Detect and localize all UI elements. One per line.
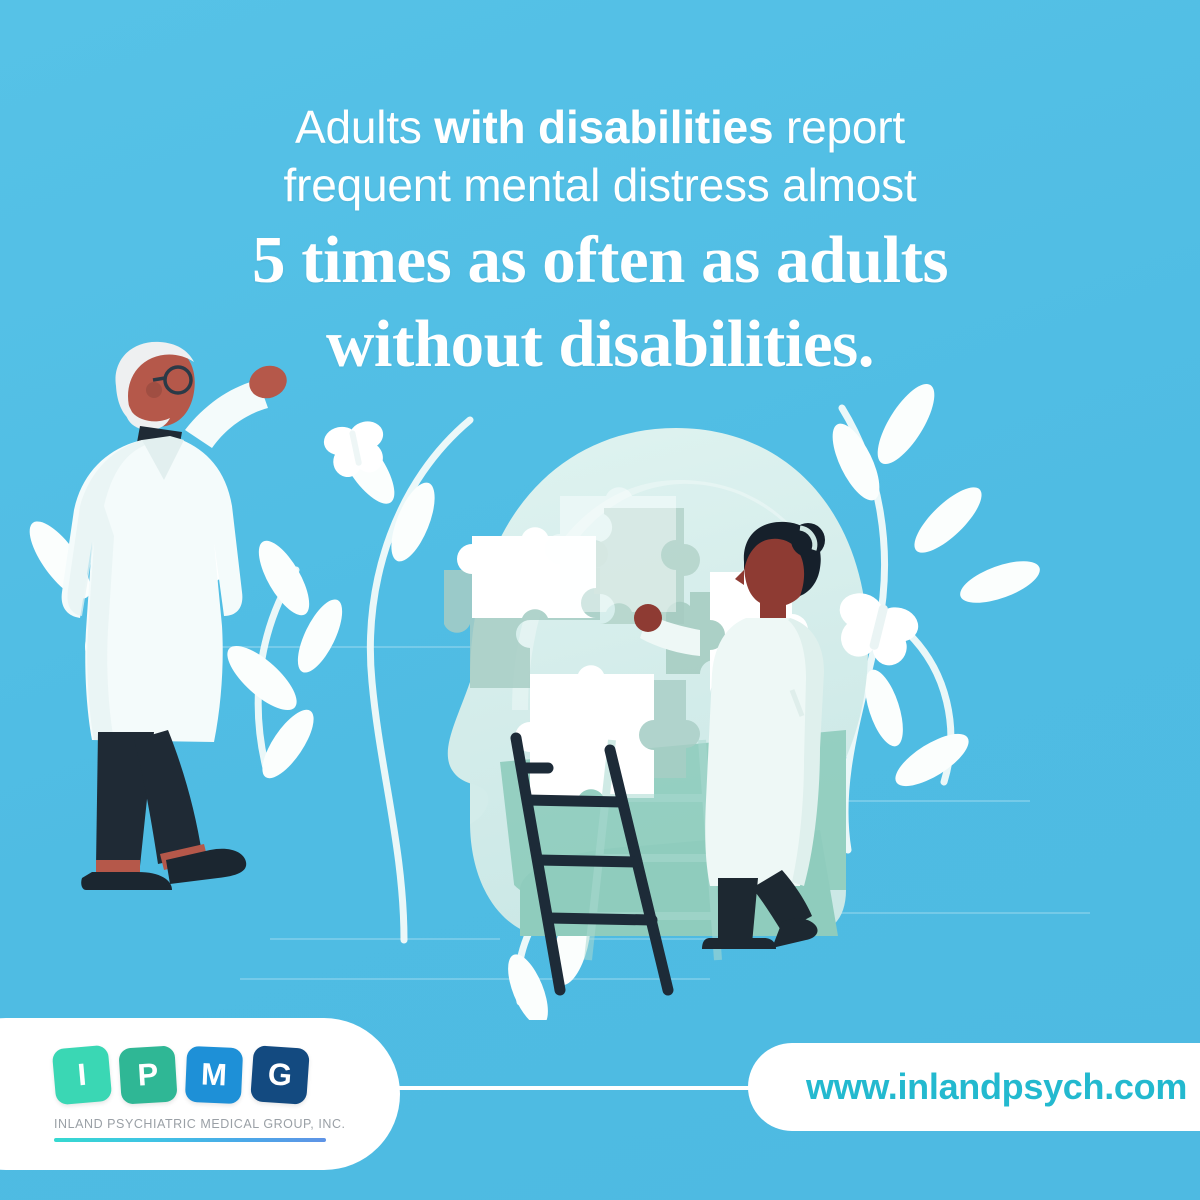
head bbox=[115, 342, 194, 430]
logo-tile-m: M bbox=[185, 1045, 243, 1103]
headline-line-3: 5 times as often as adults bbox=[0, 222, 1200, 298]
shoe bbox=[702, 938, 776, 949]
hand bbox=[634, 604, 662, 632]
hair-bun bbox=[791, 523, 825, 557]
headline-line1-post: report bbox=[773, 101, 905, 153]
infographic-canvas: Adults with disabilities report frequent… bbox=[0, 0, 1200, 1200]
logo-tagline: INLAND PSYCHIATRIC MEDICAL GROUP, INC. bbox=[54, 1117, 354, 1131]
logo-tile-letter: P bbox=[137, 1056, 160, 1093]
website-pill[interactable]: www.inlandpsych.com bbox=[748, 1043, 1200, 1131]
headline-emphasis: with disabilities bbox=[434, 101, 773, 153]
puzzle-piece-loose bbox=[515, 665, 654, 798]
headline-line-1: Adults with disabilities report bbox=[0, 98, 1200, 156]
logo-tile-letter: G bbox=[267, 1056, 294, 1094]
headline-line1-pre: Adults bbox=[295, 101, 434, 153]
website-url[interactable]: www.inlandpsych.com bbox=[806, 1066, 1187, 1108]
puzzle-piece-ghost bbox=[545, 487, 676, 612]
logo-tiles: I P M G bbox=[54, 1047, 354, 1103]
logo-tile-letter: M bbox=[200, 1056, 227, 1093]
logo: I P M G INLAND PSYCHIATRIC MEDICAL GROUP… bbox=[54, 1047, 354, 1142]
illustration bbox=[0, 330, 1200, 1020]
leg-back bbox=[718, 878, 758, 944]
senior-doctor-figure bbox=[62, 342, 291, 890]
logo-underline-rule bbox=[54, 1138, 326, 1142]
logo-pill[interactable]: I P M G INLAND PSYCHIATRIC MEDICAL GROUP… bbox=[0, 1018, 400, 1170]
logo-tile-p: P bbox=[118, 1045, 177, 1104]
headline-line-2: frequent mental distress almost bbox=[0, 156, 1200, 214]
shoe bbox=[81, 872, 172, 890]
logo-tile-g: G bbox=[250, 1045, 310, 1105]
logo-tile-letter: I bbox=[76, 1056, 88, 1093]
logo-tile-i: I bbox=[52, 1044, 113, 1105]
